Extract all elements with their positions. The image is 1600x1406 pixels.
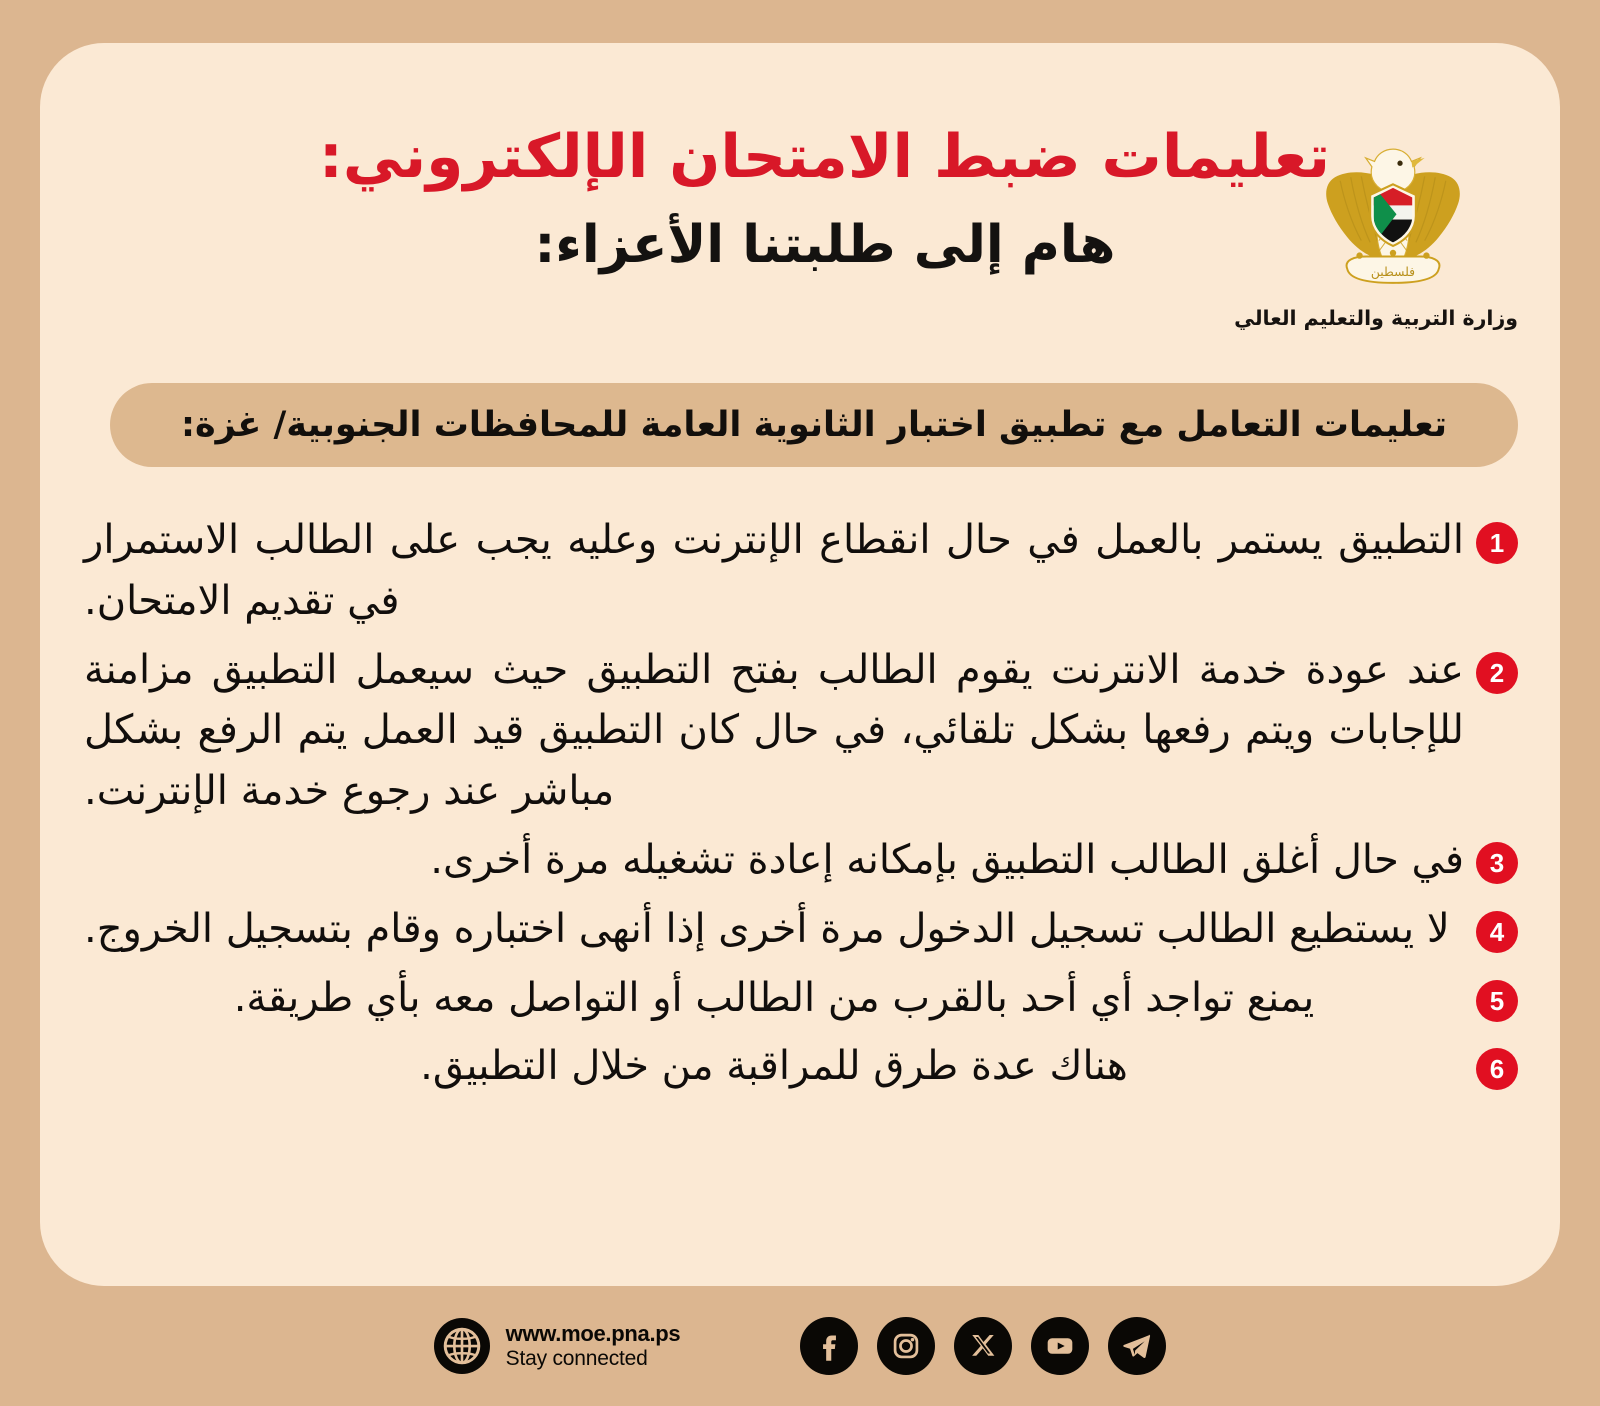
telegram-icon[interactable] (1108, 1317, 1166, 1375)
website-tagline: Stay connected (506, 1347, 681, 1372)
globe-icon (434, 1318, 490, 1374)
item-text: التطبيق يستمر بالعمل في حال انقطاع الإنت… (84, 510, 1474, 632)
x-twitter-icon[interactable] (954, 1317, 1012, 1375)
page-title: تعليمات ضبط الامتحان الإلكتروني: (320, 121, 1330, 194)
announcement-card: تعليمات ضبط الامتحان الإلكتروني: هام إلى… (40, 43, 1560, 1286)
list-item: 3 في حال أغلق الطالب التطبيق بإمكانه إعا… (84, 830, 1518, 891)
list-item: 2 عند عودة خدمة الانترنت يقوم الطالب بفت… (84, 640, 1518, 822)
instagram-icon[interactable] (877, 1317, 935, 1375)
facebook-icon[interactable] (800, 1317, 858, 1375)
item-number-badge: 6 (1476, 1048, 1518, 1090)
ministry-name: وزارة التربية والتعليم العالي (1268, 306, 1518, 330)
list-item: 5 يمنع تواجد أي أحد بالقرب من الطالب أو … (84, 968, 1518, 1029)
item-number-badge: 1 (1476, 522, 1518, 564)
youtube-icon[interactable] (1031, 1317, 1089, 1375)
item-text: هناك عدة طرق للمراقبة من خلال التطبيق. (84, 1036, 1474, 1097)
website-url[interactable]: www.moe.pna.ps (506, 1321, 681, 1347)
palestine-eagle-emblem: فلسطين (1305, 128, 1481, 304)
item-text: لا يستطيع الطالب تسجيل الدخول مرة أخرى إ… (84, 899, 1474, 960)
item-text: عند عودة خدمة الانترنت يقوم الطالب بفتح … (84, 640, 1474, 822)
item-text: في حال أغلق الطالب التطبيق بإمكانه إعادة… (84, 830, 1474, 891)
item-number-badge: 3 (1476, 842, 1518, 884)
item-number-badge: 4 (1476, 911, 1518, 953)
website-block[interactable]: www.moe.pna.ps Stay connected (434, 1318, 681, 1374)
section-banner-text: تعليمات التعامل مع تطبيق اختبار الثانوية… (181, 405, 1447, 445)
scroll-text: فلسطين (1371, 265, 1415, 280)
list-item: 1 التطبيق يستمر بالعمل في حال انقطاع الإ… (84, 510, 1518, 632)
ministry-logo: فلسطين وزارة التربية والتعليم العالي (1268, 128, 1518, 330)
header-titles: تعليمات ضبط الامتحان الإلكتروني: هام إلى… (320, 121, 1330, 280)
emblem-scroll: فلسطين (1347, 256, 1440, 282)
footer: www.moe.pna.ps Stay connected (0, 1286, 1600, 1406)
page-subtitle: هام إلى طلبتنا الأعزاء: (320, 212, 1330, 280)
item-number-badge: 2 (1476, 652, 1518, 694)
instructions-list: 1 التطبيق يستمر بالعمل في حال انقطاع الإ… (84, 510, 1518, 1105)
list-item: 4 لا يستطيع الطالب تسجيل الدخول مرة أخرى… (84, 899, 1518, 960)
section-banner: تعليمات التعامل مع تطبيق اختبار الثانوية… (110, 383, 1518, 467)
header: تعليمات ضبط الامتحان الإلكتروني: هام إلى… (40, 43, 1560, 373)
eagle-eye (1397, 161, 1402, 166)
item-text: يمنع تواجد أي أحد بالقرب من الطالب أو ال… (84, 968, 1474, 1029)
social-links (800, 1317, 1166, 1375)
list-item: 6 هناك عدة طرق للمراقبة من خلال التطبيق. (84, 1036, 1518, 1097)
item-number-badge: 5 (1476, 980, 1518, 1022)
